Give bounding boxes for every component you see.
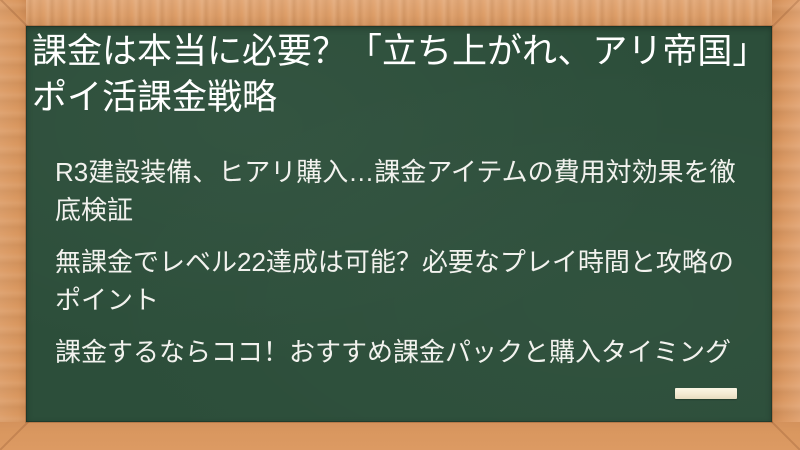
frame-bottom-rail xyxy=(0,422,800,450)
frame-top-rail xyxy=(0,0,800,26)
chalkboard-slide: 課金は本当に必要？「立ち上がれ、アリ帝国」ポイ活課金戦略 R3建設装備、ヒアリ購… xyxy=(0,0,800,450)
page-title: 課金は本当に必要？「立ち上がれ、アリ帝国」ポイ活課金戦略 xyxy=(32,29,758,121)
frame-left-rail xyxy=(0,0,26,450)
list-item: R3建設装備、ヒアリ購入…課金アイテムの費用対効果を徹底検証 xyxy=(55,153,755,229)
chalkboard-content: 課金は本当に必要？「立ち上がれ、アリ帝国」ポイ活課金戦略 R3建設装備、ヒアリ購… xyxy=(26,26,772,422)
chalk-eraser-icon xyxy=(675,388,737,399)
topic-list: R3建設装備、ヒアリ購入…課金アイテムの費用対効果を徹底検証 無課金でレベル22… xyxy=(55,153,755,385)
chalkboard-surface: 課金は本当に必要？「立ち上がれ、アリ帝国」ポイ活課金戦略 R3建設装備、ヒアリ購… xyxy=(26,26,772,422)
list-item: 無課金でレベル22達成は可能？必要なプレイ時間と攻略のポイント xyxy=(55,243,755,319)
list-item: 課金するならココ！おすすめ課金パックと購入タイミング xyxy=(55,333,755,371)
frame-right-rail xyxy=(772,0,800,450)
